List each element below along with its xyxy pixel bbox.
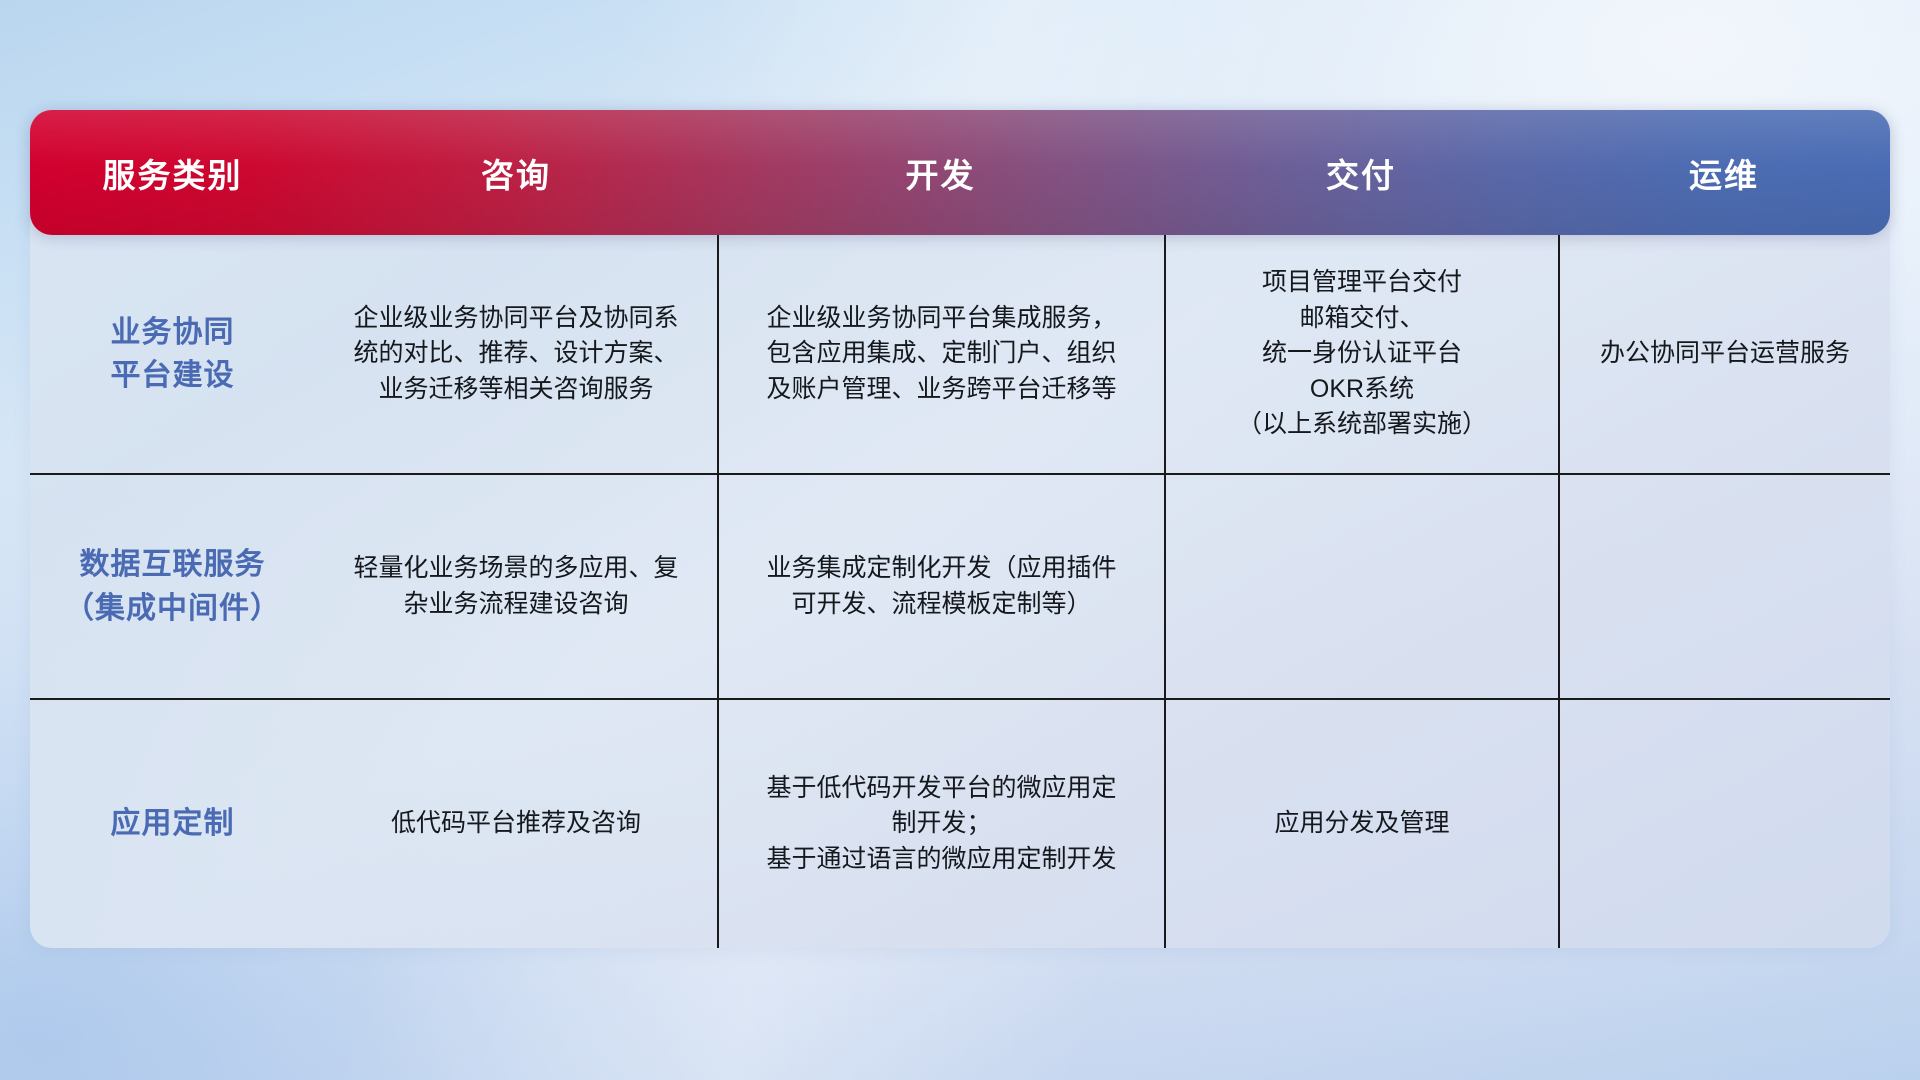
cell-delivery: 项目管理平台交付 邮箱交付、 统一身份认证平台 OKR系统 （以上系统部署实施） (1164, 235, 1558, 473)
cell-operations (1558, 700, 1890, 948)
table-row: 数据互联服务 （集成中间件） 轻量化业务场景的多应用、复 杂业务流程建设咨询 业… (30, 475, 1890, 700)
column-header-operations: 运维 (1558, 149, 1890, 197)
column-header-development: 开发 (717, 149, 1164, 197)
cell-consulting: 企业级业务协同平台及协同系 统的对比、推荐、设计方案、 业务迁移等相关咨询服务 (315, 235, 717, 473)
cell-development: 企业级业务协同平台集成服务， 包含应用集成、定制门户、组织 及账户管理、业务跨平… (717, 235, 1164, 473)
cell-delivery: 应用分发及管理 (1164, 700, 1558, 948)
row-label-business-collaboration: 业务协同 平台建设 (30, 235, 315, 473)
cell-delivery (1164, 475, 1558, 698)
service-matrix-table: 服务类别 咨询 开发 交付 运维 业务协同 平台建设 企业级业务协同平台及协同系… (30, 110, 1890, 950)
column-header-consulting: 咨询 (315, 149, 717, 197)
table-row: 业务协同 平台建设 企业级业务协同平台及协同系 统的对比、推荐、设计方案、 业务… (30, 235, 1890, 475)
row-label-app-customization: 应用定制 (30, 700, 315, 948)
column-header-delivery: 交付 (1164, 149, 1558, 197)
cell-consulting: 轻量化业务场景的多应用、复 杂业务流程建设咨询 (315, 475, 717, 698)
row-label-data-interconnect: 数据互联服务 （集成中间件） (30, 475, 315, 698)
cell-operations (1558, 475, 1890, 698)
cell-development: 基于低代码开发平台的微应用定 制开发； 基于通过语言的微应用定制开发 (717, 700, 1164, 948)
table-rows: 业务协同 平台建设 企业级业务协同平台及协同系 统的对比、推荐、设计方案、 业务… (30, 235, 1890, 948)
column-header-category: 服务类别 (30, 149, 315, 197)
cell-operations: 办公协同平台运营服务 (1558, 235, 1890, 473)
table-row: 应用定制 低代码平台推荐及咨询 基于低代码开发平台的微应用定 制开发； 基于通过… (30, 700, 1890, 948)
cell-consulting: 低代码平台推荐及咨询 (315, 700, 717, 948)
table-header-row: 服务类别 咨询 开发 交付 运维 (30, 110, 1890, 235)
cell-development: 业务集成定制化开发（应用插件 可开发、流程模板定制等） (717, 475, 1164, 698)
